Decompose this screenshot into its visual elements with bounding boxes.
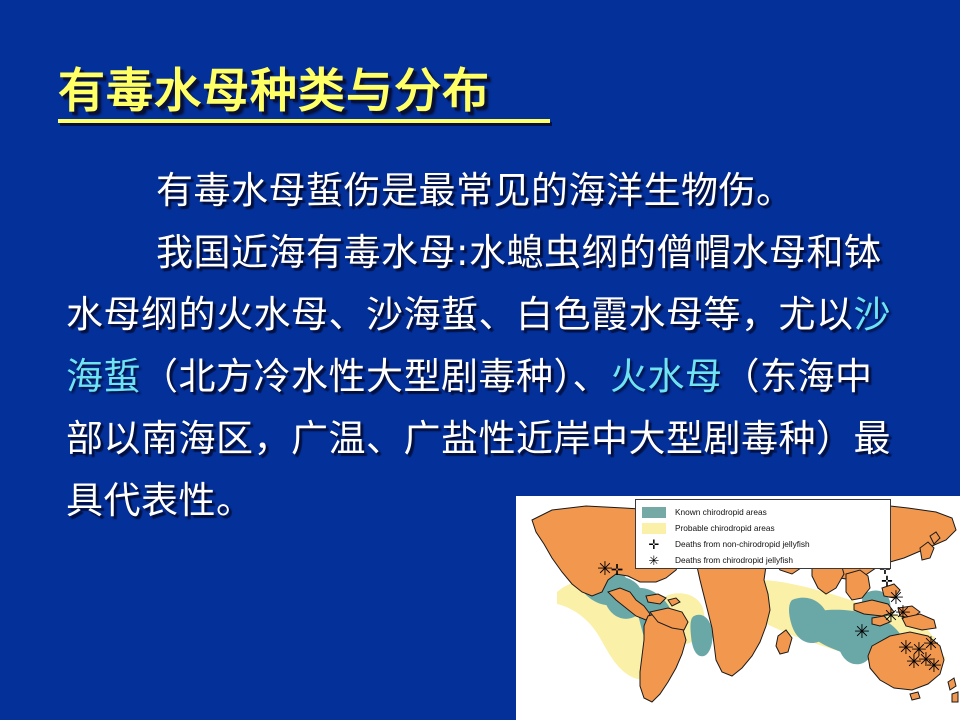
highlight-huoshuimu: 火水母	[610, 355, 723, 398]
page-title: 有毒水母种类与分布	[58, 68, 658, 115]
star-marker-queensland-b: ✳	[906, 651, 922, 673]
paragraph-2-line-3: 海蜇（北方冷水性大型剧毒种）、火水母（东海中	[66, 346, 918, 408]
world-distribution-map: ✳ ✛ ✛ ✛ ✳ ✳ ✳ ✳ ✳ ✳ ✳ ✳ ✳ ✳ Known chirod…	[516, 496, 960, 720]
body-paragraph-2: 我国近海有毒水母:水螅虫纲的僧帽水母和钵 水母纲的火水母、沙海蜇、白色霞水母等，…	[66, 222, 918, 532]
star-marker-queensland-c: ✳	[926, 655, 942, 677]
star-marker-philippines-b: ✳	[895, 602, 911, 624]
legend-swatch-known	[642, 507, 666, 518]
star-icon: ✳	[642, 555, 666, 566]
legend-label-known: Known chirodropid areas	[675, 504, 767, 520]
slide-body: 有毒水母蜇伤是最常见的海洋生物伤。 我国近海有毒水母:水螅虫纲的僧帽水母和钵 水…	[66, 160, 918, 532]
legend-row-probable: Probable chirodropid areas	[642, 520, 885, 536]
body-paragraph-1: 有毒水母蜇伤是最常见的海洋生物伤。	[66, 160, 918, 222]
plus-icon: ✛	[642, 539, 666, 550]
paragraph-2-line-2: 水母纲的火水母、沙海蜇、白色霞水母等，尤以沙	[66, 284, 918, 346]
slide-title-group: 有毒水母种类与分布	[58, 68, 658, 123]
slide-canvas: 有毒水母种类与分布 有毒水母蜇伤是最常见的海洋生物伤。 我国近海有毒水母:水螅虫…	[0, 0, 960, 720]
title-underline	[58, 119, 550, 123]
paragraph-1-text: 有毒水母蜇伤是最常见的海洋生物伤。	[156, 169, 794, 212]
legend-label-chirodropid-deaths: Deaths from chirodropid jellyfish	[675, 552, 793, 568]
legend-row-known: Known chirodropid areas	[642, 504, 885, 520]
star-marker-java: ✳	[854, 621, 870, 643]
paragraph-2-line-4: 部以南海区，广温、广盐性近岸中大型剧毒种）最	[66, 408, 918, 470]
line-3-plain-a: （北方冷水性大型剧毒种）、	[141, 355, 610, 398]
highlight-shahaizhe-part2: 海蜇	[66, 355, 141, 398]
highlight-shahaizhe-part1: 沙	[854, 293, 892, 336]
paragraph-2-line-1: 我国近海有毒水母:水螅虫纲的僧帽水母和钵	[66, 222, 918, 284]
map-legend: Known chirodropid areas Probable chirodr…	[635, 499, 891, 569]
legend-label-nonchirodropid-deaths: Deaths from non-chirodropid jellyfish	[675, 536, 810, 552]
legend-label-probable: Probable chirodropid areas	[675, 520, 775, 536]
legend-row-chirodropid-deaths: ✳ Deaths from chirodropid jellyfish	[642, 552, 885, 568]
legend-swatch-probable	[642, 523, 666, 534]
plus-marker-gulf-of-mexico: ✛	[611, 561, 624, 579]
line-3-plain-b: （东海中	[723, 355, 873, 398]
legend-row-nonchirodropid-deaths: ✛ Deaths from non-chirodropid jellyfish	[642, 536, 885, 552]
line-2-plain: 水母纲的火水母、沙海蜇、白色霞水母等，尤以	[66, 293, 854, 336]
